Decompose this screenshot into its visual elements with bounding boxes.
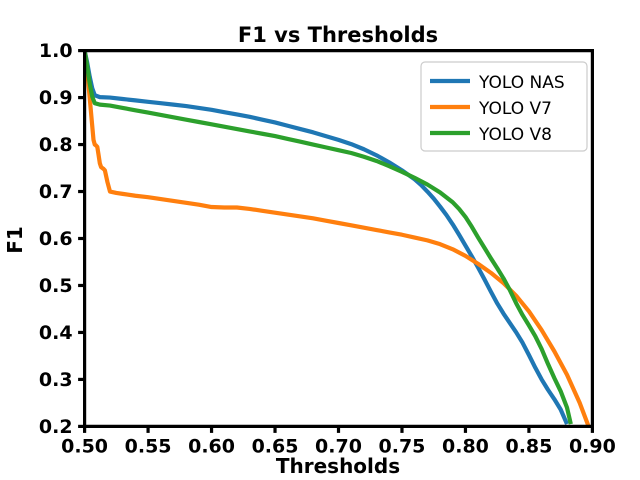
f1-vs-thresholds-chart: 0.500.550.600.650.700.750.800.850.90 0.2… — [0, 0, 640, 480]
y-tick-label: 0.2 — [39, 416, 73, 438]
y-axis-tick-labels: 0.20.30.40.50.60.70.80.91.0 — [39, 40, 73, 438]
legend-label-yolo-nas: YOLO NAS — [478, 73, 565, 93]
chart-title: F1 vs Thresholds — [238, 23, 438, 47]
x-tick-label: 0.50 — [61, 435, 108, 457]
x-tick-label: 0.85 — [505, 435, 552, 457]
x-tick-label: 0.60 — [188, 435, 235, 457]
x-axis-label: Thresholds — [276, 454, 400, 478]
legend-label-yolo-v7: YOLO V7 — [478, 99, 552, 119]
y-tick-label: 0.6 — [39, 228, 73, 250]
x-tick-label: 0.90 — [569, 435, 616, 457]
y-tick-label: 1.0 — [39, 40, 73, 62]
y-tick-label: 0.5 — [39, 275, 73, 297]
y-tick-label: 0.9 — [39, 87, 73, 109]
x-tick-label: 0.80 — [442, 435, 489, 457]
x-tick-label: 0.55 — [125, 435, 172, 457]
y-tick-label: 0.4 — [39, 322, 73, 344]
y-tick-label: 0.7 — [39, 181, 73, 203]
legend: YOLO NAS YOLO V7 YOLO V8 — [421, 62, 587, 151]
y-tick-label: 0.3 — [39, 369, 73, 391]
y-axis-label: F1 — [3, 226, 27, 254]
legend-label-yolo-v8: YOLO V8 — [478, 125, 552, 145]
figure-canvas: 0.500.550.600.650.700.750.800.850.90 0.2… — [0, 0, 640, 480]
y-tick-label: 0.8 — [39, 134, 73, 156]
